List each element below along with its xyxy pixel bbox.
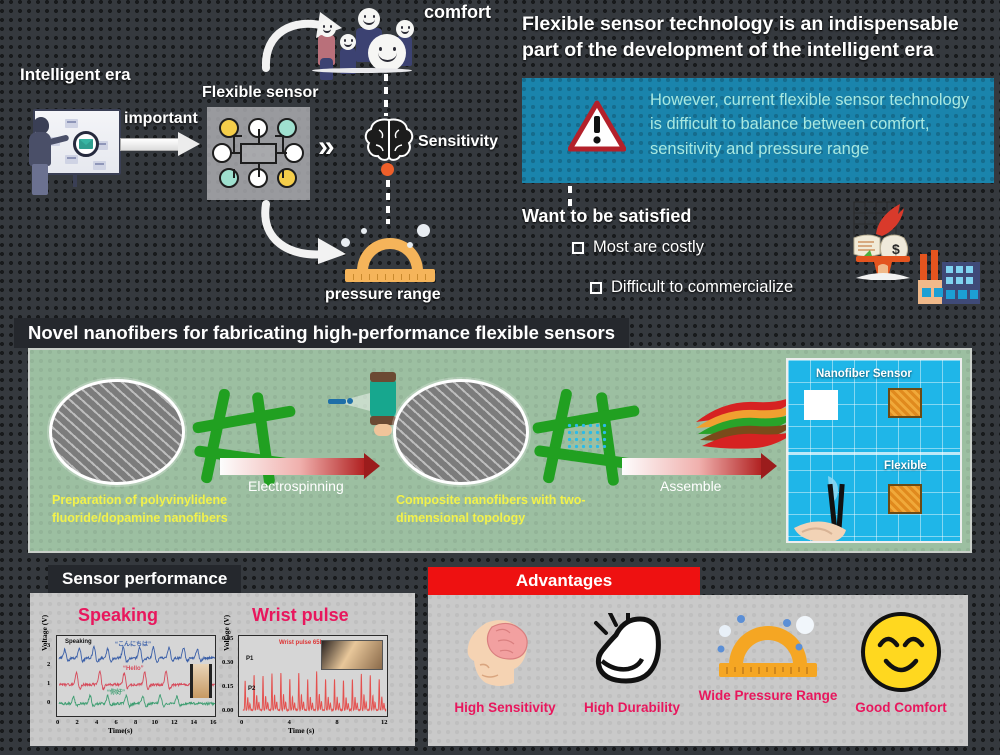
advantage-good-comfort: Good Comfort — [838, 609, 964, 716]
photo-label-nanofiber-sensor: Nanofiber Sensor — [816, 368, 912, 380]
concept-flow-diagram: Intelligent era important Flexible senso… — [0, 0, 520, 318]
xtick-label: 2 — [76, 719, 79, 726]
xtick-label: 0 — [240, 719, 243, 726]
factory-icon — [916, 248, 982, 304]
dopamine-particles — [566, 422, 608, 452]
wrist-photo-inset — [321, 640, 383, 670]
warning-text: However, current flexible sensor technol… — [650, 88, 980, 161]
whiteboard-stand — [73, 175, 77, 187]
dashed-connector-comfort — [384, 74, 388, 116]
ytick-label: 1 — [47, 680, 50, 687]
whiteboard-node-icon — [65, 155, 78, 164]
curved-arrow-to-pressure-icon — [256, 196, 356, 266]
problem-statement-section: Flexible sensor technology is an indispe… — [518, 0, 1000, 318]
ytick-label: 0.00 — [222, 707, 233, 714]
annotation-p2: P2 — [248, 686, 255, 692]
panel-divider — [788, 452, 962, 455]
comfort-label: comfort — [424, 2, 491, 23]
xtick-label: 8 — [134, 719, 137, 726]
xtick-label: 12 — [381, 719, 388, 726]
xtick-label: 4 — [288, 719, 291, 726]
bullet-label: Most are costly — [593, 238, 704, 257]
fabrication-process-panel: Preparation of polyvinylidene fluoride/d… — [28, 348, 972, 553]
warning-triangle-icon — [568, 100, 626, 152]
advantage-label: High Sensitivity — [440, 700, 570, 716]
double-chevron-icon: » — [318, 130, 329, 164]
annotation-japanese: “こんにちは” — [115, 639, 151, 648]
throat-photo-inset — [190, 664, 212, 698]
graphical-abstract: Intelligent era important Flexible senso… — [0, 0, 1000, 755]
sensitivity-label: Sensitivity — [418, 133, 498, 151]
ytick-label: 2 — [47, 661, 50, 668]
checkbox-icon — [590, 282, 602, 294]
white-substrate — [804, 390, 838, 420]
bullet-most-are-costly: Most are costly — [572, 238, 704, 257]
process-label-electrospinning: Electrospinning — [248, 478, 344, 494]
annotation-p1: P1 — [246, 656, 253, 662]
advantages-banner-label: Advantages — [516, 571, 612, 591]
chart-title-speaking: Speaking — [78, 605, 158, 626]
sensor-core-element — [240, 143, 277, 164]
sensor-chip — [888, 484, 922, 514]
speaking-chart: Speaking “こんにちは” “Hello” “你好” — [56, 635, 216, 717]
annotation-hello: “Hello” — [123, 666, 144, 672]
money-scale-icon: $ — [848, 200, 920, 280]
advantages-panel: High Sensitivity High Durability — [428, 595, 968, 746]
advantage-wide-pressure-range: Wide Pressure Range — [698, 609, 838, 704]
tweezers-hand-illustration — [794, 470, 884, 542]
flexible-sensor-schematic — [207, 107, 310, 200]
dashed-connector-pressure — [386, 180, 390, 224]
sem-image-pvdf-nanofibers — [52, 382, 182, 482]
advantage-high-durability: High Durability — [566, 613, 698, 716]
advantage-label: High Durability — [566, 700, 698, 716]
wrist-pulse-chart: Wrist pulse 65bpm P1 P2 — [238, 635, 388, 717]
advantage-label: Wide Pressure Range — [698, 688, 838, 704]
xtick-label: 16 — [210, 719, 217, 726]
advantages-banner: Advantages — [428, 567, 700, 595]
photo-label-flexible: Flexible — [884, 460, 927, 472]
bullet-difficult-to-commercialize: Difficult to commercialize — [590, 278, 793, 297]
ytick-label: 3 — [47, 642, 50, 649]
important-arrow-icon — [120, 133, 202, 155]
chart-title-wrist-pulse: Wrist pulse — [252, 605, 349, 626]
xtick-label: 8 — [335, 719, 338, 726]
checkbox-icon — [572, 242, 584, 254]
ytick-label: 0 — [47, 699, 50, 706]
envelope-icon — [79, 139, 93, 149]
process-arrow-assemble — [622, 458, 762, 475]
caption-right: Composite nanofibers with two-dimensiona… — [396, 492, 596, 528]
brain-head-icon — [466, 613, 544, 695]
sensor-node-yellow — [277, 168, 297, 188]
advantage-high-sensitivity: High Sensitivity — [440, 613, 570, 716]
intelligent-era-label: Intelligent era — [20, 65, 131, 85]
sensor-performance-banner: Sensor performance — [48, 565, 241, 593]
xtick-label: 0 — [56, 719, 59, 726]
ytick-label: 0.30 — [222, 659, 233, 666]
sensor-photo-panel: Nanofiber Sensor Flexible — [786, 358, 962, 543]
annotation-speaking: Speaking — [65, 639, 92, 645]
xtick-label: 14 — [191, 719, 198, 726]
wrist-xlabel: Time (s) — [288, 726, 314, 735]
sensor-node-white — [212, 143, 232, 163]
xtick-label: 4 — [95, 719, 98, 726]
connector-dot — [381, 163, 394, 176]
flexible-sensor-label: Flexible sensor — [202, 84, 319, 102]
flexed-bicep-icon — [590, 613, 674, 695]
whiteboard-node-icon — [93, 161, 106, 170]
platform — [312, 68, 412, 73]
sensor-performance-panel: Speaking Wrist pulse Speaking “こんにちは” “H… — [30, 593, 415, 746]
ytick-label: 0.45 — [222, 635, 233, 642]
sensor-chip — [888, 388, 922, 418]
nanofiber-banner: Novel nanofibers for fabricating high-pe… — [14, 318, 629, 348]
whiteboard-node-icon — [65, 119, 78, 128]
brain-icon — [364, 118, 414, 162]
protractor-icon — [345, 230, 435, 282]
protractor-icon — [713, 609, 823, 683]
annotation-chinese: “你好” — [107, 687, 125, 696]
process-arrow-electrospinning — [220, 458, 365, 475]
want-to-be-satisfied-label: Want to be satisfied — [522, 206, 691, 227]
xtick-label: 12 — [171, 719, 178, 726]
bullet-label: Difficult to commercialize — [611, 278, 793, 297]
process-label-assemble: Assemble — [660, 478, 721, 494]
sem-image-composite-nanofibers — [396, 382, 526, 482]
svg-text:$: $ — [892, 241, 900, 257]
ytick-label: 0.15 — [222, 683, 233, 690]
speaking-xlabel: Time(s) — [108, 726, 132, 735]
headline-text: Flexible sensor technology is an indispe… — [522, 12, 996, 63]
pressure-range-label: pressure range — [325, 286, 441, 304]
speaking-ylabel: Voltage (V) — [40, 581, 49, 651]
presenter-figure — [25, 117, 55, 195]
sensor-performance-banner-label: Sensor performance — [62, 569, 227, 589]
sensor-node-white — [284, 143, 304, 163]
xtick-label: 10 — [152, 719, 159, 726]
nanofiber-banner-label: Novel nanofibers for fabricating high-pe… — [28, 322, 615, 344]
sensor-node-teal — [219, 168, 239, 188]
happy-people-group-icon — [310, 2, 430, 74]
dashed-connector-want — [568, 186, 572, 206]
whiteboard-presenter-illustration — [15, 103, 125, 195]
important-label: important — [124, 110, 198, 128]
smiley-face-icon — [858, 609, 944, 695]
caption-left: Preparation of polyvinylidene fluoride/d… — [52, 492, 242, 528]
warning-panel: However, current flexible sensor technol… — [522, 78, 994, 183]
advantage-label: Good Comfort — [838, 700, 964, 716]
xtick-label: 6 — [115, 719, 118, 726]
